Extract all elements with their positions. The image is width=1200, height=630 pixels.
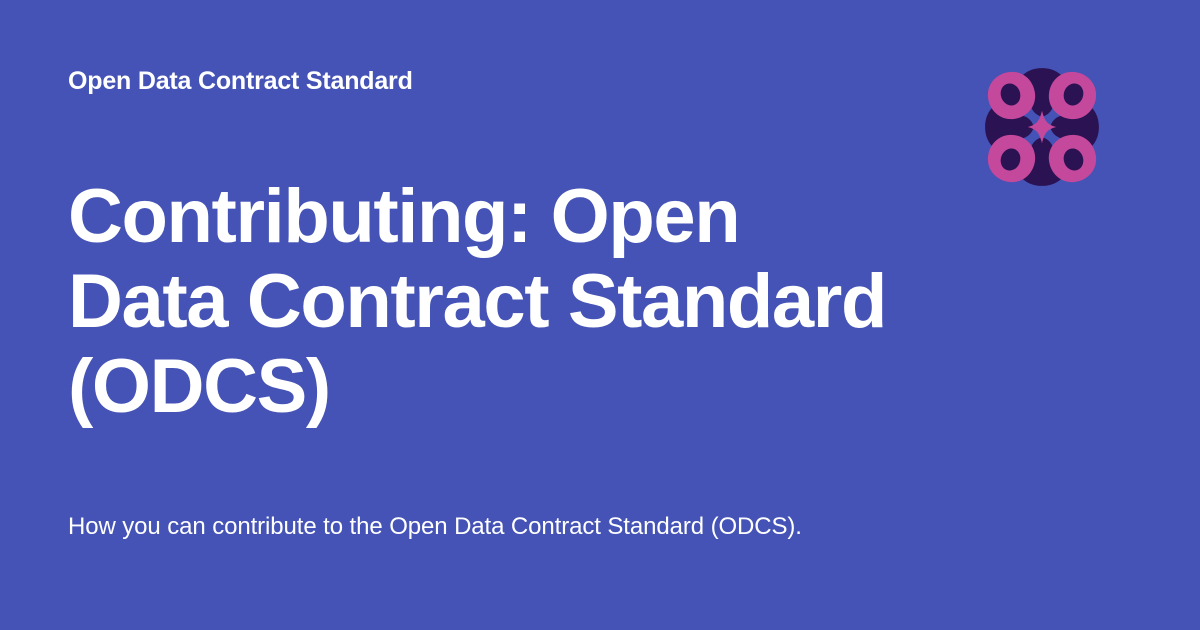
odcs-logo-svg [981, 64, 1103, 190]
odcs-logo [981, 64, 1103, 190]
page-title: Contributing: Open Data Contract Standar… [68, 174, 898, 429]
open-graph-card: Open Data Contract Standard Contributing… [0, 0, 1200, 630]
site-name: Open Data Contract Standard [68, 66, 888, 96]
page-description: How you can contribute to the Open Data … [68, 510, 858, 543]
site-name-block: Open Data Contract Standard [68, 66, 888, 96]
logo-center-star [1028, 111, 1056, 144]
